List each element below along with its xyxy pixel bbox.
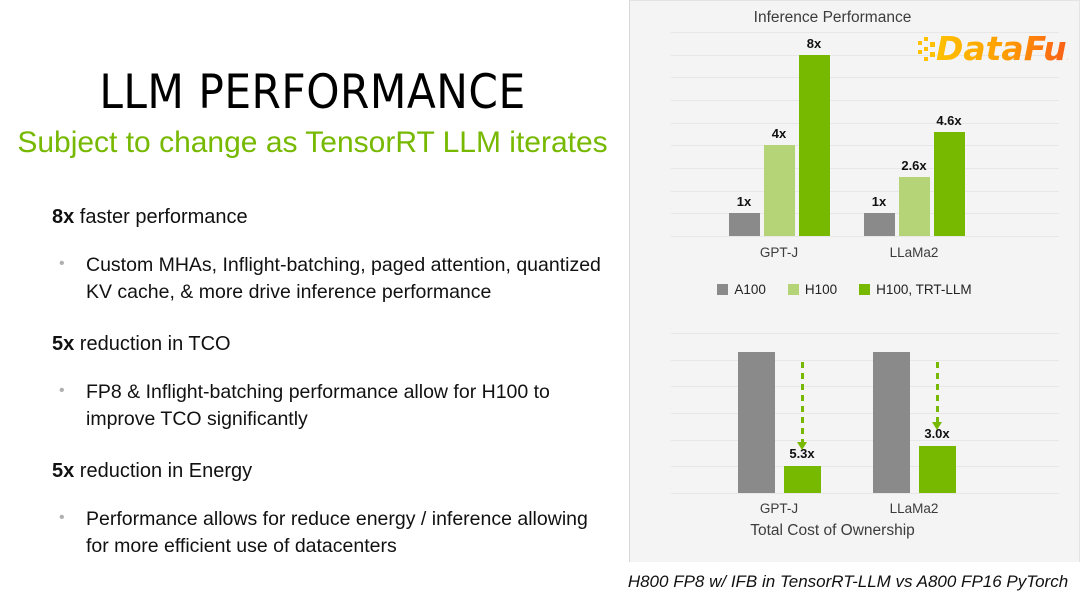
slide-root: LLM PERFORMANCE Subject to change as Ten…: [0, 0, 1080, 608]
bullet-dot-icon: •: [52, 379, 86, 433]
datafun-logo: DataFun.: [916, 28, 1068, 68]
chart-bar: [799, 55, 830, 236]
chart-gridline: [671, 360, 1059, 361]
chart-gridline: [671, 191, 1059, 192]
bullet-list: 8x faster performance•Custom MHAs, Infli…: [52, 205, 612, 559]
page-subtitle: Subject to change as TensorRT LLM iterat…: [0, 126, 625, 161]
bullet-dot-icon: •: [52, 252, 86, 306]
chart-bar-value-label: 8x: [787, 36, 842, 51]
chart-gridline: [671, 333, 1059, 334]
chart-category-label: LLaMa2: [854, 245, 974, 260]
chart-gridline: [671, 123, 1059, 124]
bullet-headline: 5x reduction in Energy: [52, 459, 612, 484]
bullet-headline-text: reduction in Energy: [74, 460, 252, 482]
legend-swatch: [859, 284, 870, 295]
bullet-item: •Performance allows for reduce energy / …: [52, 506, 612, 560]
page-title: LLM PERFORMANCE: [0, 68, 625, 117]
bullet-dot-icon: •: [52, 506, 86, 560]
chart-bar: [784, 466, 821, 493]
reduction-arrow-line: [936, 362, 939, 423]
chart-bar: [764, 145, 795, 236]
chart-bar: [899, 177, 930, 236]
chart-gridline: [671, 100, 1059, 101]
chart-category-label: GPT-J: [719, 245, 839, 260]
legend-item: A100: [717, 282, 766, 297]
chart-category-label: GPT-J: [719, 501, 839, 516]
chart-gridline: [671, 236, 1059, 237]
legend-item: H100: [788, 282, 837, 297]
legend-label: A100: [734, 282, 766, 297]
bullet-item-text: Performance allows for reduce energy / i…: [86, 506, 612, 560]
bullet-headline: 5x reduction in TCO: [52, 332, 612, 357]
bullet-headline-text: reduction in TCO: [74, 333, 230, 355]
bullet-headline-metric: 5x: [52, 460, 74, 482]
reduction-arrow-head: [932, 422, 942, 430]
bullet-item-text: FP8 & Inflight-batching performance allo…: [86, 379, 612, 433]
legend-swatch: [788, 284, 799, 295]
bullet-headline: 8x faster performance: [52, 205, 612, 230]
bullet-headline-text: faster performance: [74, 206, 247, 228]
chart-bar-value-label: 4.6x: [922, 113, 977, 128]
svg-text:DataFun.: DataFun.: [936, 29, 1068, 68]
chart-category-label: LLaMa2: [854, 501, 974, 516]
legend-swatch: [717, 284, 728, 295]
bullet-item: •Custom MHAs, Inflight-batching, paged a…: [52, 252, 612, 306]
chart-gridline: [671, 440, 1059, 441]
left-content-column: LLM PERFORMANCE Subject to change as Ten…: [0, 0, 625, 608]
bullet-headline-metric: 8x: [52, 206, 74, 228]
chart-legend: A100H100H100, TRT-LLM: [630, 282, 1080, 297]
bullet-item: •FP8 & Inflight-batching performance all…: [52, 379, 612, 433]
chart-bar: [919, 446, 956, 493]
chart-gridline: [671, 493, 1059, 494]
chart-gridline: [671, 168, 1059, 169]
bullet-item-text: Custom MHAs, Inflight-batching, paged at…: [86, 252, 612, 306]
chart-bar: [729, 213, 760, 236]
chart-bar: [934, 132, 965, 236]
chart-bar: [864, 213, 895, 236]
chart-axis-title-tco: Total Cost of Ownership: [608, 522, 1057, 540]
reduction-arrow-head: [797, 442, 807, 450]
bullet-headline-metric: 5x: [52, 333, 74, 355]
chart-title-inference: Inference Performance: [608, 9, 1057, 27]
chart-gridline: [671, 413, 1059, 414]
chart-bar: [873, 352, 910, 493]
chart-gridline: [671, 77, 1059, 78]
datafun-logo-icon: DataFun.: [916, 28, 1068, 68]
charts-panel: Inference Performance 1x4x8xGPT-J1x2.6x4…: [629, 0, 1080, 562]
chart-gridline: [671, 466, 1059, 467]
reduction-arrow-line: [801, 362, 804, 443]
chart-bar: [738, 352, 775, 493]
legend-label: H100: [805, 282, 837, 297]
chart-gridline: [671, 145, 1059, 146]
legend-label: H100, TRT-LLM: [876, 282, 972, 297]
legend-item: H100, TRT-LLM: [859, 282, 972, 297]
chart-gridline: [671, 386, 1059, 387]
footnote-caption: H800 FP8 w/ IFB in TensorRT-LLM vs A800 …: [616, 572, 1080, 592]
